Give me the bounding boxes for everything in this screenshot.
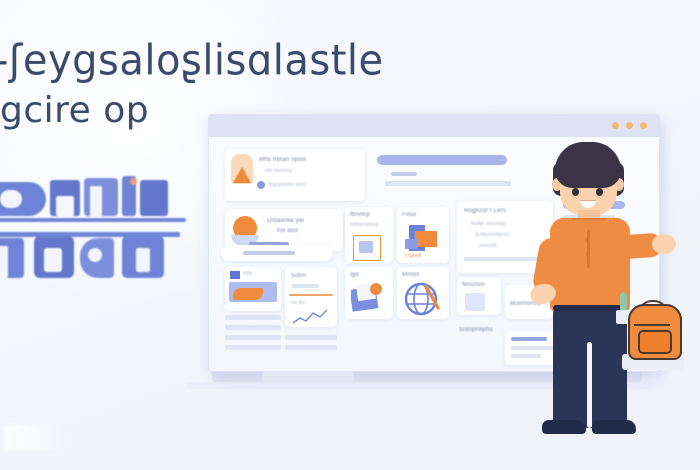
list-filler-line [285,345,337,350]
eye-left [572,188,579,196]
card-subtitle: t Ignntł [405,253,445,260]
list-filler-line [285,335,337,340]
promo-card-subtitle: flol doo [277,228,337,235]
promo-card-title: Ostasrow yei [267,218,337,225]
line-chart-icon [293,309,327,325]
hero-card-title: Mhx trbtan njoos [259,157,359,164]
orange-accent-dot [130,178,137,185]
decorative-blue-blocks [0,176,190,294]
blue-block-cutout [136,248,150,272]
subcard-heading: Nncnsin [462,282,498,289]
window-dot-icon[interactable] [626,122,633,129]
promo-action-label [243,251,295,255]
blue-block-underline [0,232,180,237]
hair [555,142,621,188]
blue-block-row-2 [0,232,190,284]
window-control-dots[interactable] [612,122,647,129]
leg-gap [587,342,592,428]
window-dot-icon[interactable] [612,122,619,129]
hero-card[interactable]: Mhx trbtan njoos rmi rbeimia logoesstor … [225,149,365,201]
list-item[interactable]: Mnntn [397,267,449,319]
shoe-right [592,420,636,434]
card-chart-accent [233,288,263,300]
shoe-left [542,420,586,434]
list-filler-line [225,315,281,320]
result-line [385,181,511,186]
list-filler-line [225,325,281,330]
document-icon-inner [359,241,373,253]
search-meta-line [391,172,417,176]
browser-titlebar [209,115,659,137]
blue-block-row-1 [0,176,190,222]
search-input[interactable] [377,155,507,165]
list-item[interactable]: Flnur t Ignntł [397,207,449,263]
blue-block-underline [0,218,186,222]
eye-right [596,188,603,196]
window-dot-icon[interactable] [640,122,647,129]
right-panel-subcard[interactable]: Nncnsin [457,277,501,315]
list-filler-line [225,335,281,340]
card-line [291,284,319,288]
hand-right [652,234,676,254]
blue-block-cutout [0,190,22,208]
orange-backpack [622,300,684,370]
card-subtitle: nu Gn [291,300,315,307]
card-title: Mnntn [402,272,444,279]
monitor-stand-neck [262,372,354,382]
hero-card-subtitle: rmi rbeimia [265,168,355,175]
blue-block-cutout [44,248,62,272]
card-title: Sotrn [291,273,331,280]
hero-card-meta: logoesstor woo [269,182,357,189]
chart-bar-blue-2 [405,239,417,249]
card-title: Hfin [243,271,277,278]
chart-bar-orange [415,231,437,247]
blue-block-cutout [0,246,8,278]
shirt-placket [587,230,590,268]
card-divider [289,294,333,296]
promo-action-pill[interactable] [221,245,333,261]
corner-watermark [4,424,74,450]
headline-line-1: -ʃeygsaloʂlisɑlastle [0,37,424,85]
list-item[interactable]: fbnmrp rnbtesamog [345,207,393,263]
card-title: Flnur [402,212,444,219]
backpack-pocket [638,330,672,354]
blue-block-cutout [56,196,74,216]
list-item[interactable]: Hfin [225,267,281,311]
list-filler-line [225,345,281,350]
card-title: fbnmrp [350,212,390,219]
illustration-canvas: -ʃeygsaloʂlisɑlastle gcire op [0,0,700,470]
list-item[interactable]: Igo [345,267,393,319]
shirt-button [586,252,590,256]
list-item[interactable]: Sotrn nu Gn [285,267,337,327]
status-dot-icon [257,181,265,189]
blue-block-cutout [88,248,102,262]
shirt-button [586,238,590,242]
blue-block-cutout [90,186,102,216]
card-title: Igo [350,272,384,279]
globe-icon [404,282,442,316]
backpack-zipper [634,324,670,326]
subcard-thumb [465,293,485,311]
blue-block-shape [140,180,168,216]
bar-chart-icon [230,271,240,279]
pie-chart-icon [351,282,385,314]
card-subtitle: rnbtesamog [350,222,392,229]
